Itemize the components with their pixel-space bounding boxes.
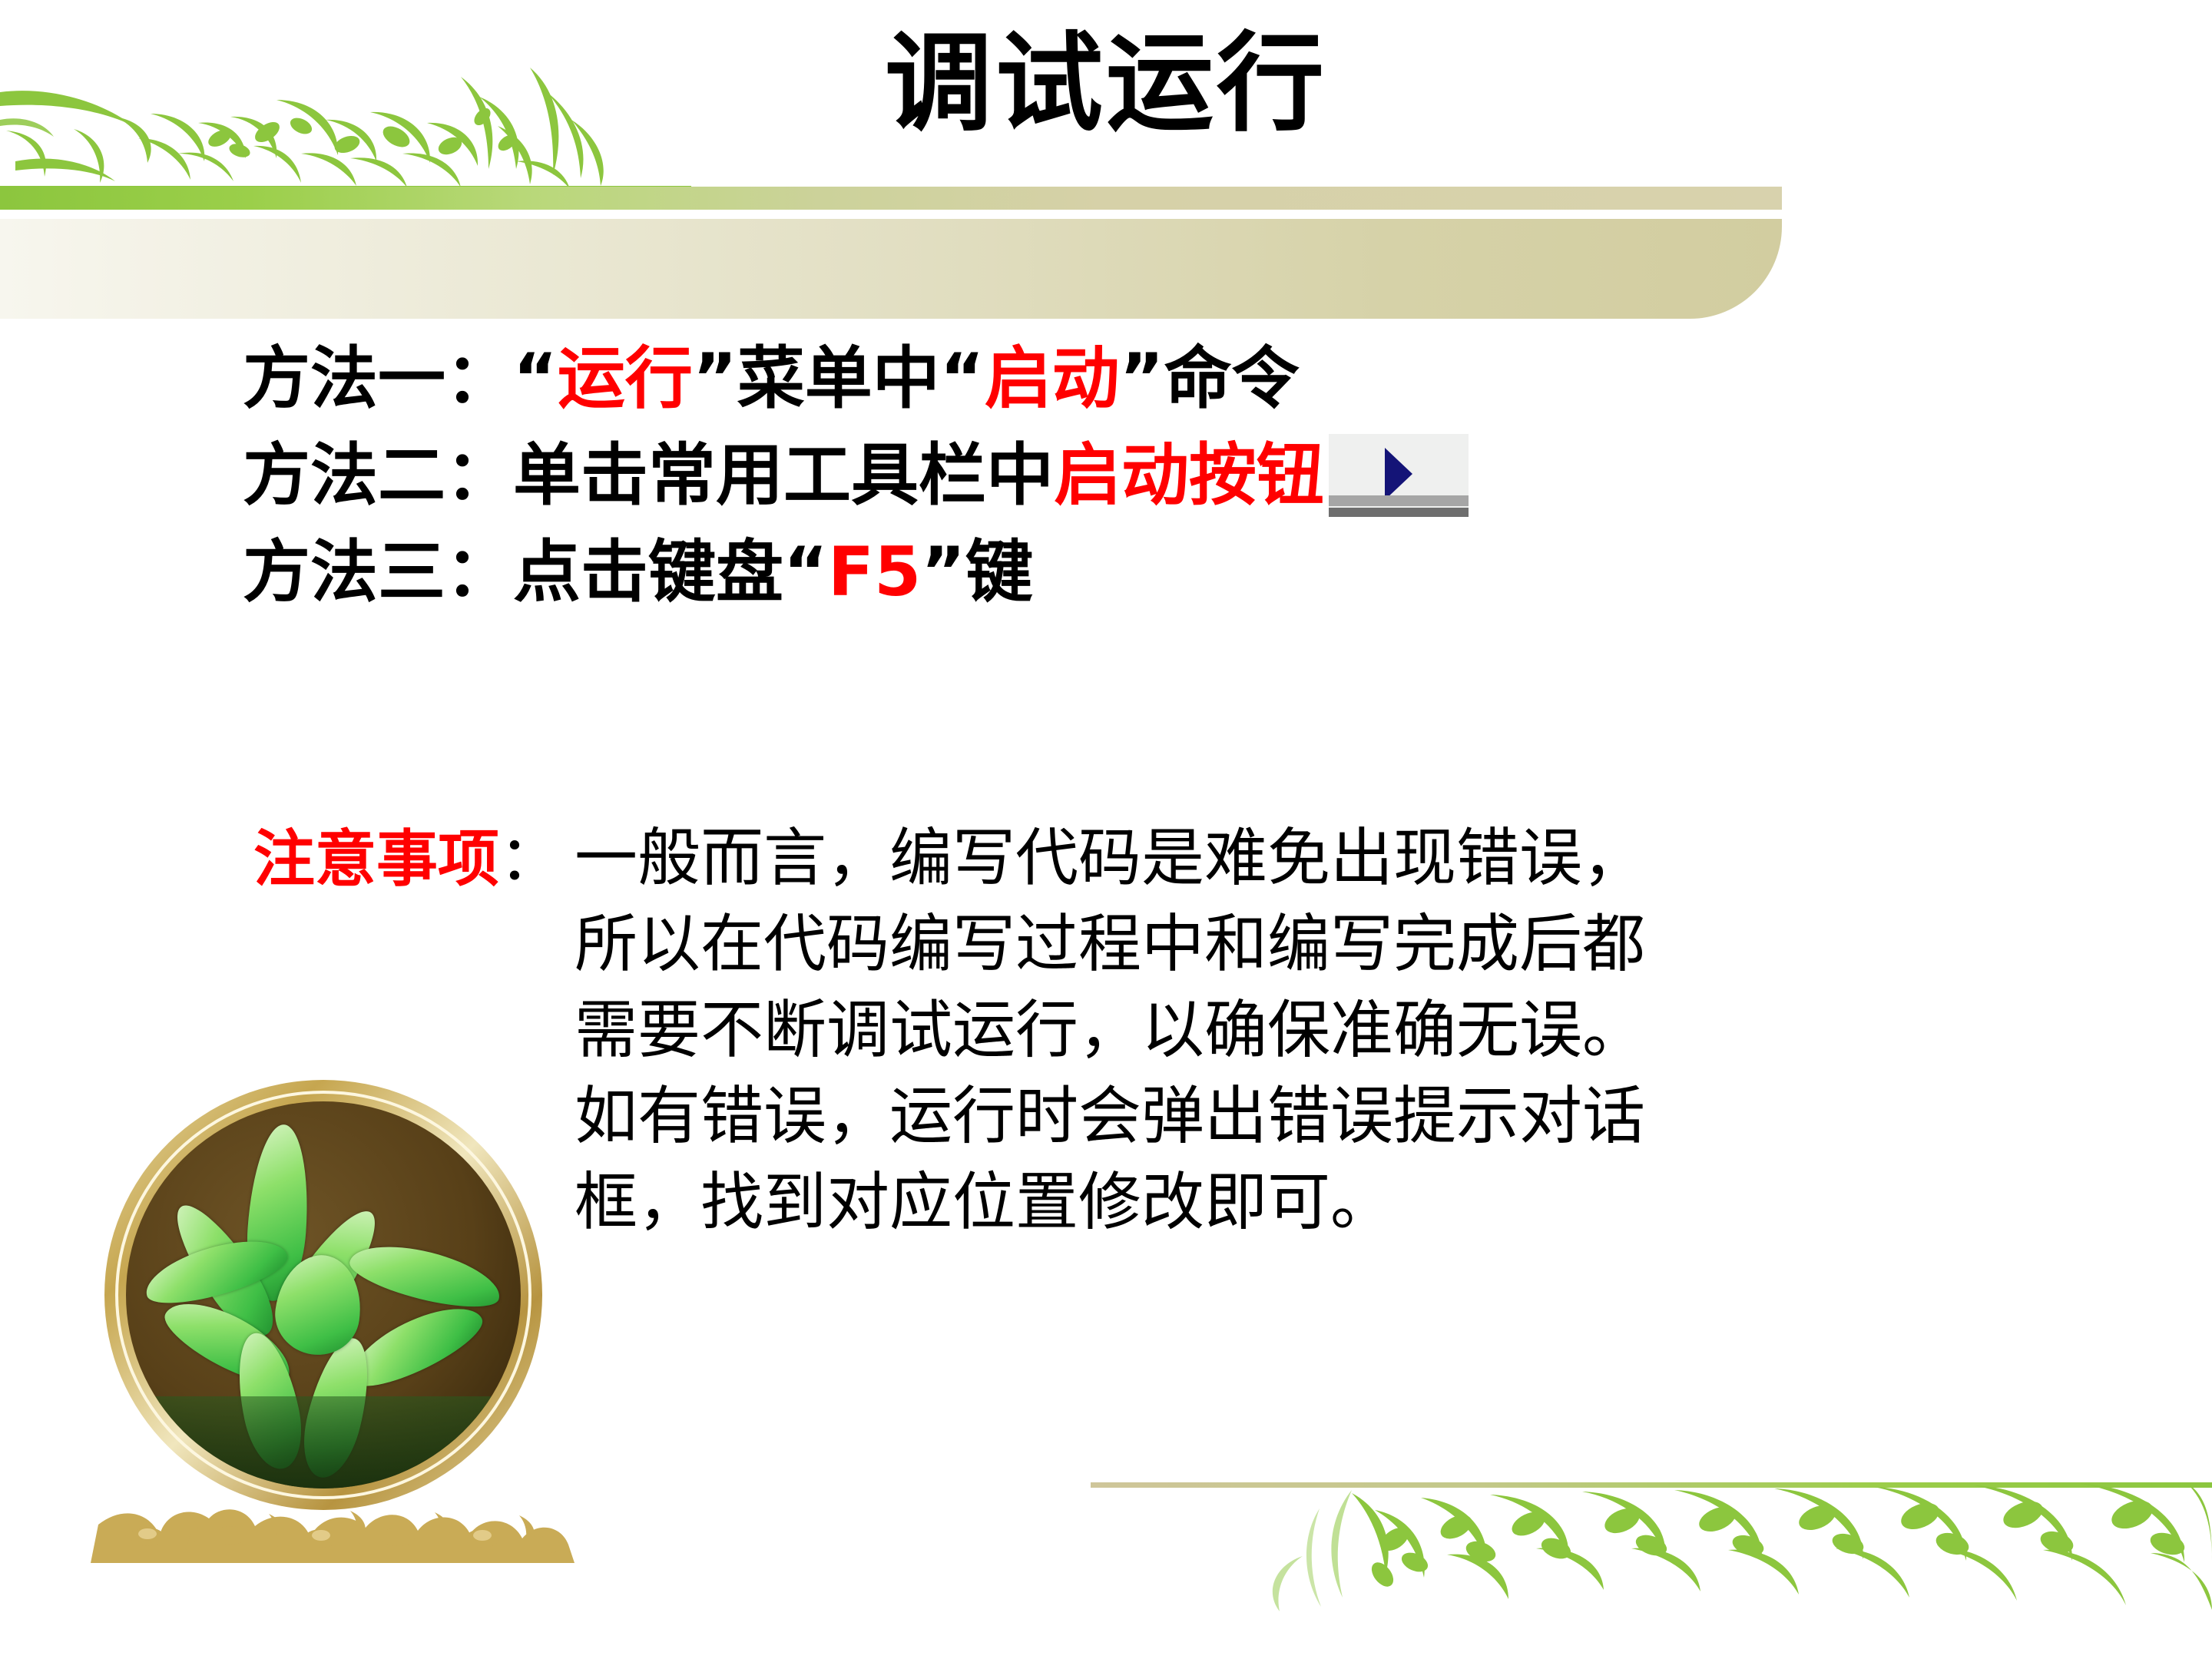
slide-header: 调试运行 xyxy=(0,0,2212,323)
toolbar-bar-light xyxy=(1329,495,1469,506)
quote-close-3: ” xyxy=(921,524,965,621)
header-green-gradient-bar xyxy=(0,187,1782,210)
quote-close-2: ” xyxy=(1120,330,1164,427)
footer-vine-ornament-icon xyxy=(1121,1482,2212,1659)
toolbar-start-button-image[interactable] xyxy=(1329,434,1469,517)
method-two-line: 方法二：单击常用工具栏中 启动按钮 xyxy=(243,427,2009,524)
method-three-line: 方法三：点击键盘 “ F5 ” 键 xyxy=(243,524,2009,621)
method-one-suffix: 命令 xyxy=(1164,330,1299,427)
method-one-prefix: 方法一： xyxy=(243,330,513,427)
plant-photo xyxy=(126,1101,521,1488)
method-two-keyword-start-button: 启动按钮 xyxy=(1054,427,1324,524)
note-line-5: 框，找到对应位置修改即可。 xyxy=(575,1160,1866,1246)
note-line-1: 一般而言，编写代码是难免出现错误， xyxy=(575,816,1866,902)
play-triangle-icon xyxy=(1385,448,1412,500)
header-beige-band xyxy=(0,219,1782,319)
quote-open-3: “ xyxy=(783,524,828,621)
gold-foliage-base-ornament-icon xyxy=(68,1471,590,1563)
plant-medallion xyxy=(98,1075,559,1551)
method-three-suffix: 键 xyxy=(965,524,1033,621)
note-label: 注意事项 xyxy=(253,816,499,902)
quote-open-2: “ xyxy=(940,330,985,427)
methods-list: 方法一： “ 运行 ” 菜单中 “ 启动 ” 命令 方法二：单击常用工具栏中 启… xyxy=(243,330,2009,621)
note-line-4: 如有错误，运行时会弹出错误提示对话 xyxy=(575,1074,1866,1160)
note-line-3: 需要不断调试运行，以确保准确无误。 xyxy=(575,988,1866,1074)
toolbar-bar-dark xyxy=(1329,508,1469,517)
method-one-middle: 菜单中 xyxy=(737,330,940,427)
method-one-keyword-start: 启动 xyxy=(985,330,1120,427)
quote-close-1: ” xyxy=(693,330,737,427)
method-three-prefix: 方法三：点击键盘 xyxy=(243,524,783,621)
method-one-keyword-run: 运行 xyxy=(558,330,693,427)
quote-open-1: “ xyxy=(513,330,558,427)
note-paragraph: 一般而言，编写代码是难免出现错误， 所以在代码编写过程中和编写完成后都 需要不断… xyxy=(575,816,1866,1246)
page-title: 调试运行 xyxy=(0,28,2212,141)
slide-canvas: 调试运行 方法一： “ 运行 ” 菜单中 “ 启动 ” 命令 方法二：单击常用工… xyxy=(0,0,2212,1659)
method-one-line: 方法一： “ 运行 ” 菜单中 “ 启动 ” 命令 xyxy=(243,330,2009,427)
method-three-keyword-f5: F5 xyxy=(828,524,921,621)
note-colon: ： xyxy=(499,816,561,902)
note-line-2: 所以在代码编写过程中和编写完成后都 xyxy=(575,902,1866,988)
method-two-prefix: 方法二：单击常用工具栏中 xyxy=(243,427,1054,524)
